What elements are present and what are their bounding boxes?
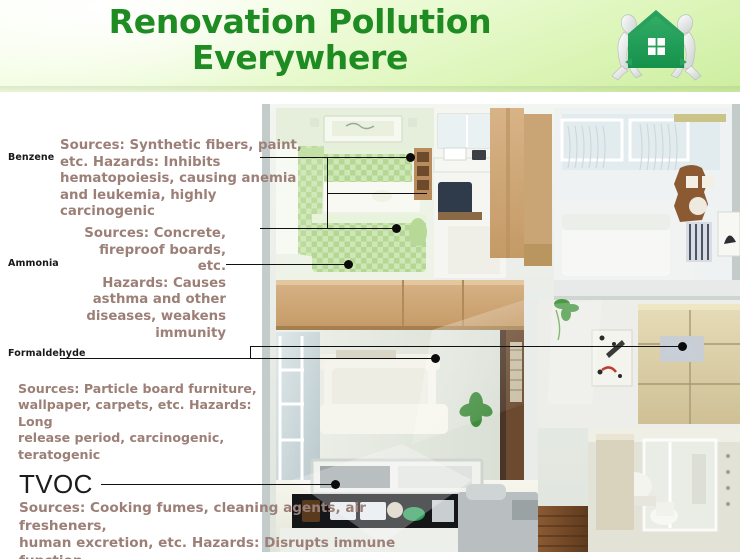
benzene-line-1: Sources: Synthetic fibers, paint, bbox=[60, 138, 304, 155]
formaldehyde-description: Sources: Particle board furniture, wallp… bbox=[18, 381, 288, 463]
benzene-leader-branch-mid bbox=[327, 193, 427, 194]
header-shadow bbox=[0, 86, 740, 92]
tvoc-description: Sources: Cooking fumes, cleaning agents,… bbox=[19, 500, 449, 559]
page-title: Renovation Pollution Everywhere bbox=[0, 4, 600, 76]
formaldehyde-leader-branch-upper bbox=[250, 346, 686, 347]
ammonia-line-2: fireproof boards, etc. bbox=[70, 243, 226, 276]
benzene-line-4: and leukemia, highly bbox=[60, 188, 304, 205]
benzene-line-3: hematopoiesis, causing anemia bbox=[60, 171, 304, 188]
benzene-label: Benzene bbox=[8, 152, 54, 163]
tvoc-leader-line bbox=[101, 484, 337, 485]
benzene-description: Sources: Synthetic fibers, paint, etc. H… bbox=[60, 138, 304, 221]
tvoc-point-kitchen bbox=[331, 480, 340, 489]
formaldehyde-leader-branch-lower bbox=[250, 358, 436, 359]
ammonia-line-6: immunity bbox=[70, 326, 226, 343]
ammonia-line-1: Sources: Concrete, bbox=[70, 226, 226, 243]
formaldehyde-line-1: Sources: Particle board furniture, bbox=[18, 381, 288, 397]
title-line-2: Everywhere bbox=[0, 40, 600, 76]
formaldehyde-point-wardrobe bbox=[678, 342, 687, 351]
formaldehyde-line-2: wallpaper, carpets, etc. Hazards: Long bbox=[18, 397, 288, 430]
ammonia-line-5: diseases, weakens bbox=[70, 309, 226, 326]
tvoc-line-1: Sources: Cooking fumes, cleaning agents,… bbox=[19, 500, 449, 535]
formaldehyde-line-3: release period, carcinogenic, teratogeni… bbox=[18, 430, 288, 463]
tvoc-label: TVOC bbox=[19, 469, 93, 500]
ammonia-line-4: asthma and other bbox=[70, 292, 226, 309]
formaldehyde-point-wall bbox=[431, 354, 440, 363]
ammonia-label: Ammonia bbox=[8, 258, 59, 269]
ammonia-point bbox=[344, 260, 353, 269]
ammonia-line-3: Hazards: Causes bbox=[70, 276, 226, 293]
header-banner: Renovation Pollution Everywhere bbox=[0, 0, 740, 92]
two-movers-carrying-green-house-icon bbox=[592, 2, 720, 90]
tvoc-line-2: human excretion, etc. Hazards: Disrupts … bbox=[19, 535, 449, 559]
apartment-3d-cutaway-photo bbox=[262, 104, 740, 559]
benzene-point-ceiling bbox=[406, 153, 415, 162]
ammonia-description: Sources: Concrete, fireproof boards, etc… bbox=[70, 226, 226, 342]
benzene-point-bed bbox=[392, 224, 401, 233]
formaldehyde-label: Formaldehyde bbox=[8, 348, 86, 359]
formaldehyde-leader-stem bbox=[60, 358, 251, 359]
benzene-line-2: etc. Hazards: Inhibits bbox=[60, 155, 304, 172]
benzene-line-5: carcinogenic bbox=[60, 204, 304, 221]
title-line-1: Renovation Pollution bbox=[109, 2, 492, 41]
ammonia-leader-line bbox=[226, 264, 350, 265]
benzene-leader-branch-bottom bbox=[260, 228, 397, 229]
infographic-root: Renovation Pollution Everywhere bbox=[0, 0, 740, 559]
